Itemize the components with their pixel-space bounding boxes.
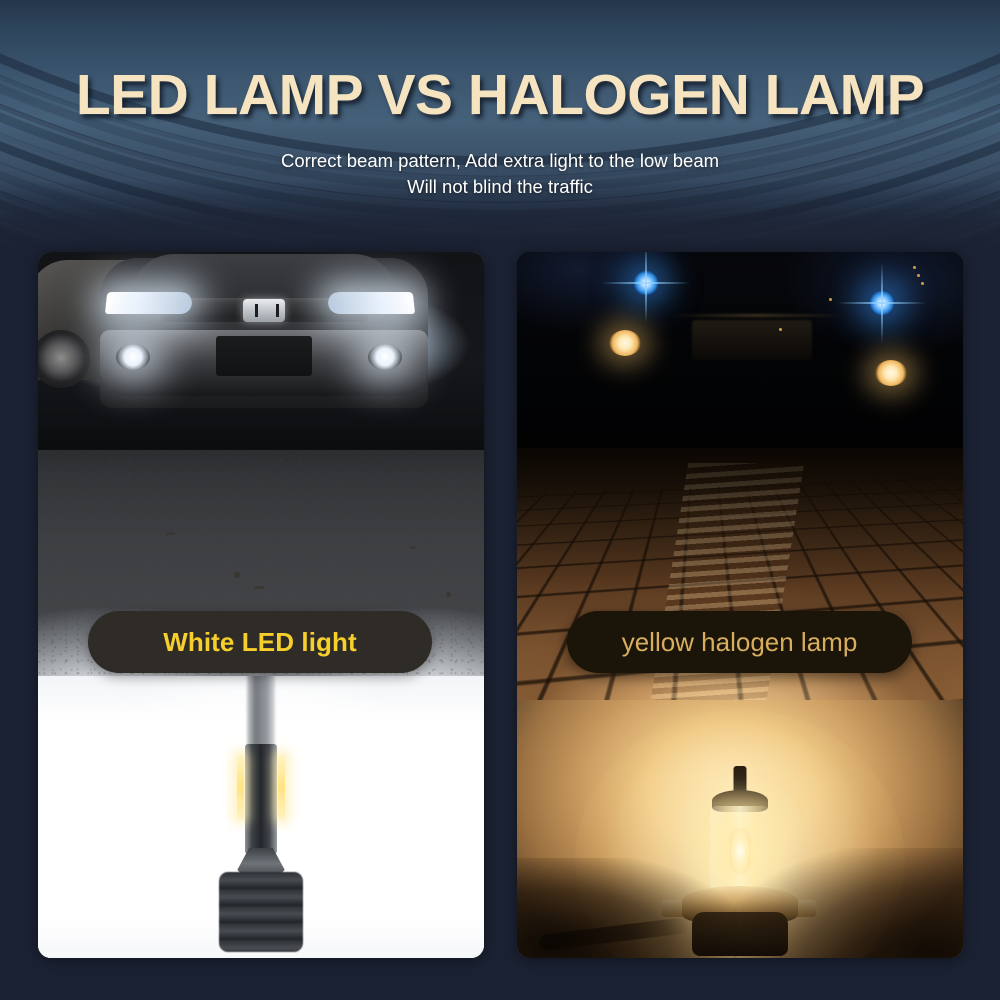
page-subtitle: Correct beam pattern, Add extra light to… [0, 148, 1000, 200]
led-chip-right [278, 754, 285, 820]
led-label-badge: White LED light [88, 611, 432, 673]
halogen-comparison-panel [517, 252, 963, 958]
header-banner: LED LAMP VS HALOGEN LAMP Correct beam pa… [0, 0, 1000, 250]
page-title: LED LAMP VS HALOGEN LAMP [0, 62, 1000, 128]
asphalt-debris [446, 592, 451, 597]
asphalt-debris [234, 572, 240, 578]
background-city-light [779, 328, 782, 331]
halogen-bulb-product-photo [517, 700, 963, 958]
background-city-light [917, 274, 920, 277]
halogen-fog-light-left [609, 330, 641, 356]
background-city-light [829, 298, 832, 301]
backdrop-shadow-left [517, 858, 737, 958]
car-grille [692, 320, 812, 360]
led-label-text: White LED light [163, 627, 357, 658]
subtitle-line-1: Correct beam pattern, Add extra light to… [281, 150, 719, 171]
car-hood-edge [667, 314, 847, 317]
led-headlight-right [327, 292, 415, 314]
asphalt-debris [166, 532, 175, 535]
led-comparison-panel [38, 252, 484, 958]
led-bulb-stem [247, 676, 275, 748]
led-fog-light-right [368, 344, 402, 370]
car-front-with-halogen-lights-photo [517, 252, 963, 472]
led-headlight-left [105, 292, 193, 314]
led-bulb-product-photo [38, 676, 484, 958]
subtitle-line-2: Will not blind the traffic [0, 174, 1000, 200]
infographic-page: LED LAMP VS HALOGEN LAMP Correct beam pa… [0, 0, 1000, 1000]
halogen-fog-light-right [875, 360, 907, 386]
blue-accent-light-right [869, 290, 895, 316]
asphalt-debris [254, 586, 265, 589]
led-chip-left [237, 754, 244, 820]
asphalt-debris [410, 546, 416, 549]
honda-emblem-icon [243, 299, 285, 322]
license-plate [216, 336, 312, 376]
backdrop-shadow-right [733, 848, 963, 958]
background-city-light [913, 266, 916, 269]
car-front-with-led-headlights-photo [38, 252, 484, 457]
led-bulb-body [245, 744, 277, 854]
led-bulb-base [219, 872, 303, 952]
background-city-light [921, 282, 924, 285]
halogen-label-badge: yellow halogen lamp [567, 611, 912, 673]
blue-accent-light-left [633, 270, 659, 296]
halogen-label-text: yellow halogen lamp [622, 627, 858, 658]
led-fog-light-left [116, 344, 150, 370]
